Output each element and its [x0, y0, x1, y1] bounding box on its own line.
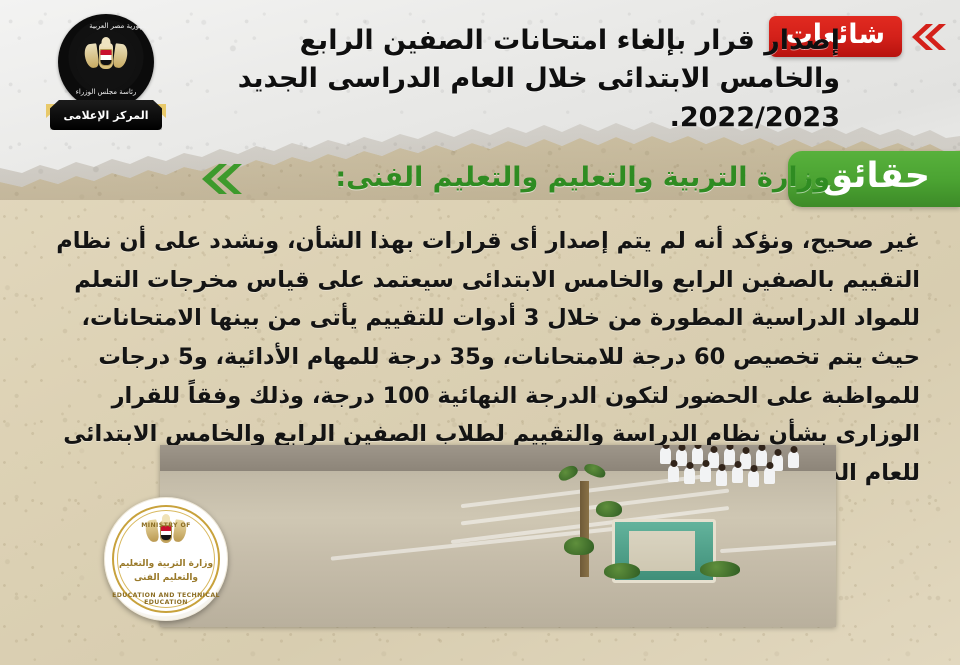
double-chevron-left-icon	[908, 22, 946, 52]
eagle-of-saladin-icon	[84, 37, 128, 83]
cabinet-logo-arc-bottom-text: رئاسة مجلس الوزراء	[44, 88, 168, 96]
egypt-cabinet-media-center-logo-icon: جمهورية مصر العربية رئاسة مجلس الوزراء ا…	[44, 12, 168, 134]
eagle-of-saladin-icon	[146, 514, 186, 554]
cabinet-logo-ribbon-text: المركز الإعلامى	[64, 109, 149, 122]
moe-logo-english-top: MINISTRY OF	[105, 522, 227, 529]
cabinet-logo-ribbon: المركز الإعلامى	[50, 100, 162, 130]
facts-heading: وزارة التربية والتعليم والتعليم الفنى:	[190, 160, 830, 195]
moe-logo-arabic-line-1: وزارة التربية والتعليم	[105, 558, 227, 570]
cabinet-logo-arc-top-text: جمهورية مصر العربية	[58, 22, 182, 30]
page-title: إصدار قرار بإلغاء امتحانات الصفين الرابع…	[180, 22, 840, 137]
infographic-canvas: جمهورية مصر العربية رئاسة مجلس الوزراء ا…	[0, 0, 960, 665]
moe-logo-english-bottom: EDUCATION AND TECHNICAL EDUCATION	[105, 592, 227, 606]
ministry-of-education-logo-icon: MINISTRY OF وزارة التربية والتعليم والتع…	[104, 497, 228, 621]
moe-logo-arabic-line-2: والتعليم الفنى	[105, 572, 227, 584]
school-assembly-photo	[160, 445, 836, 627]
